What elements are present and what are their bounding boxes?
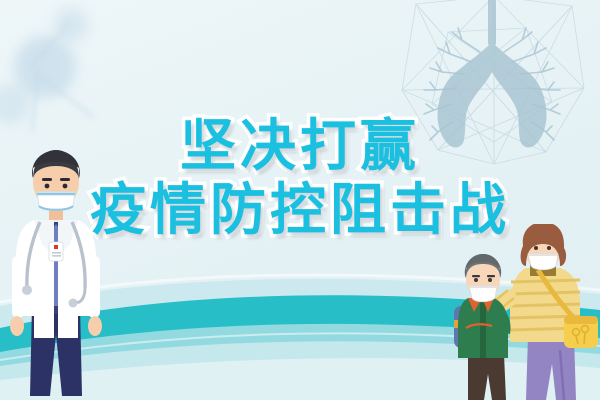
family-figure-group xyxy=(452,224,600,400)
boy-figure xyxy=(454,254,511,400)
doctor-figure xyxy=(0,138,116,400)
poster-canvas: 坚决打赢 疫情防控阻击战 xyxy=(0,0,600,400)
lungs-wireframe-icon xyxy=(376,0,600,172)
